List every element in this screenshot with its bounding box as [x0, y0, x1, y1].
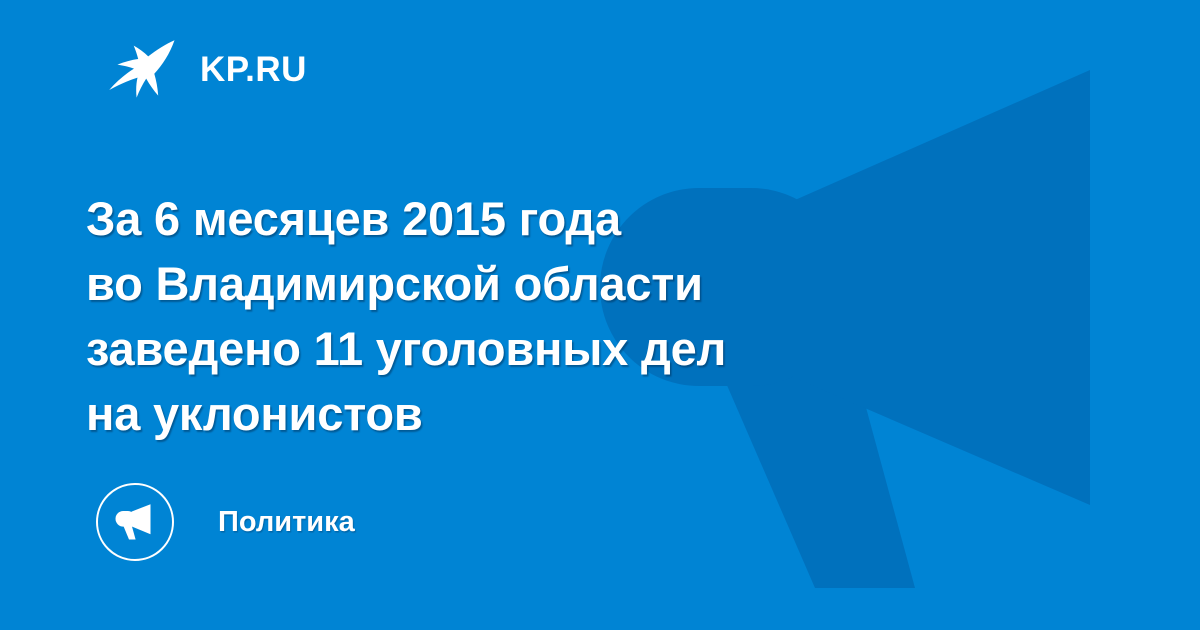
category-icon-circle [96, 483, 174, 561]
category-badge[interactable]: Политика [96, 482, 355, 562]
category-label: Политика [218, 508, 355, 537]
megaphone-icon [112, 501, 158, 543]
headline-line-1: За 6 месяцев 2015 года [86, 186, 1086, 251]
swallow-bird-icon [108, 38, 178, 100]
headline: За 6 месяцев 2015 года во Владимирской о… [86, 186, 1086, 446]
site-logo[interactable]: KP.RU [108, 36, 307, 102]
headline-line-2: во Владимирской области [86, 251, 1086, 316]
headline-line-4: на уклонистов [86, 381, 1086, 446]
site-logo-text: KP.RU [200, 52, 307, 87]
headline-line-3: заведено 11 уголовных дел [86, 316, 1086, 381]
article-share-card: KP.RU За 6 месяцев 2015 года во Владимир… [0, 0, 1200, 630]
